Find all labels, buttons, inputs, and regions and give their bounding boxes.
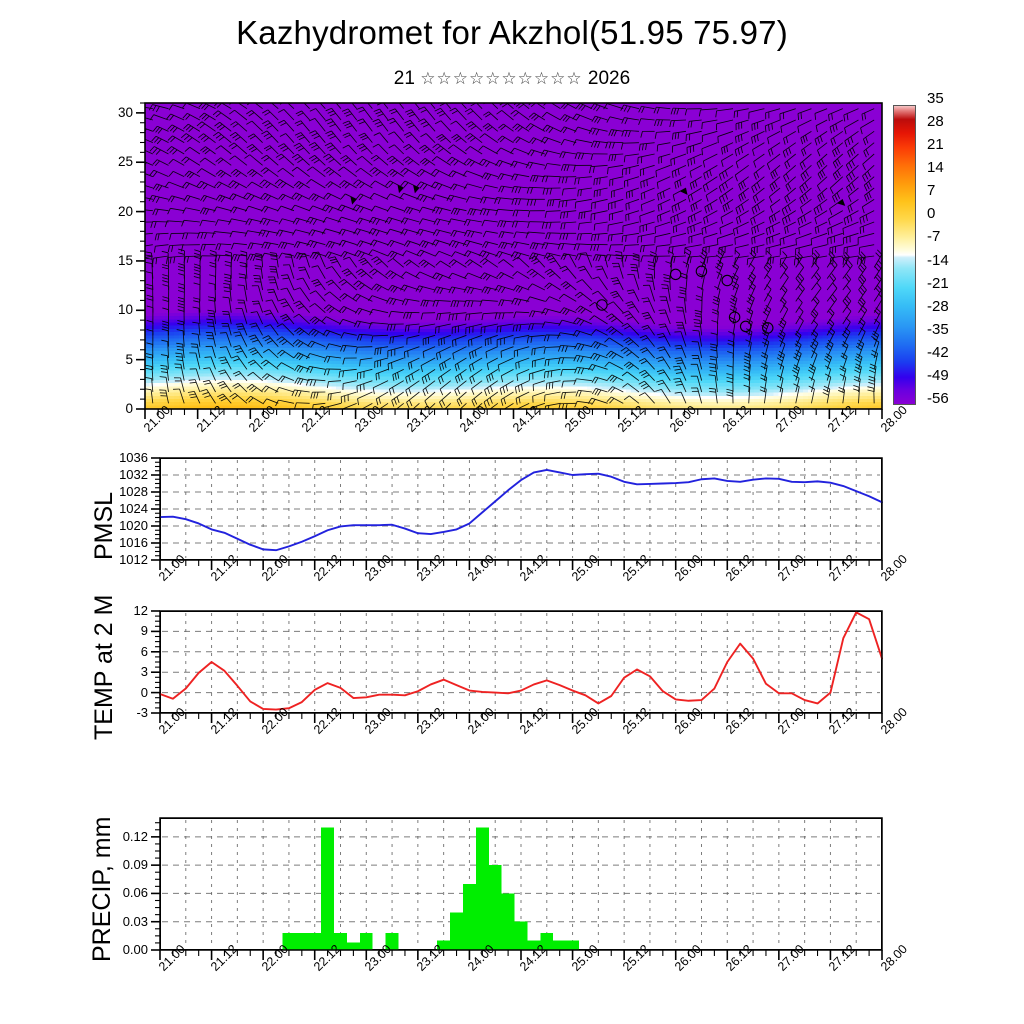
y-tick-label: 0.12 [88,830,148,843]
precip-plot [0,0,1024,1024]
y-tick-label: 0.03 [88,915,148,928]
y-tick-label: 0.09 [88,858,148,871]
y-tick-label: 0.06 [88,886,148,899]
y-tick-label: 0.00 [88,943,148,956]
forecast-page: Kazhydromet for Akzhol(51.95 75.97) 21 ☆… [0,0,1024,1024]
